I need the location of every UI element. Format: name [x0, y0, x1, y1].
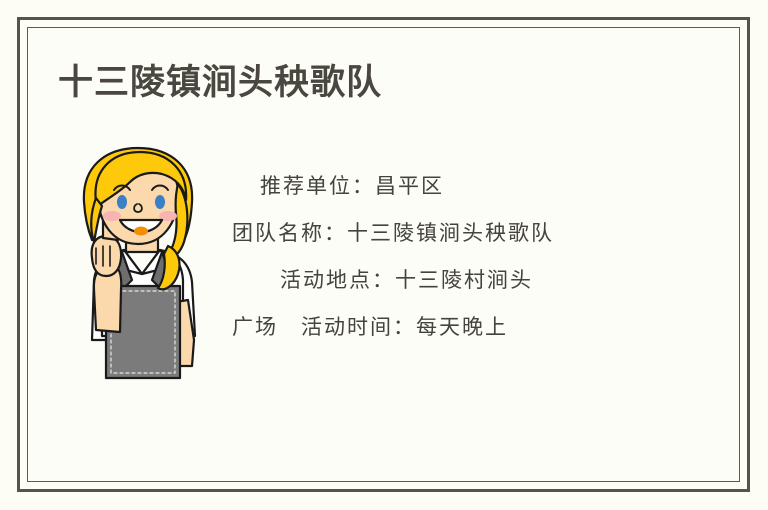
poster-card: 十三陵镇涧头秧歌队 [0, 0, 768, 510]
page-title: 十三陵镇涧头秧歌队 [58, 62, 382, 104]
info-line-recommending-unit: 推荐单位：昌平区 [232, 163, 650, 210]
cartoon-girl-pointing-up-illustration [62, 140, 217, 380]
info-line-activity-time: 广场 活动时间：每天晚上 [232, 304, 650, 351]
info-line-team-name: 团队名称：十三陵镇涧头秧歌队 [232, 210, 650, 257]
info-line-activity-location: 活动地点：十三陵村涧头 [232, 257, 650, 304]
team-info-block: 推荐单位：昌平区 团队名称：十三陵镇涧头秧歌队 活动地点：十三陵村涧头 广场 活… [232, 163, 650, 351]
